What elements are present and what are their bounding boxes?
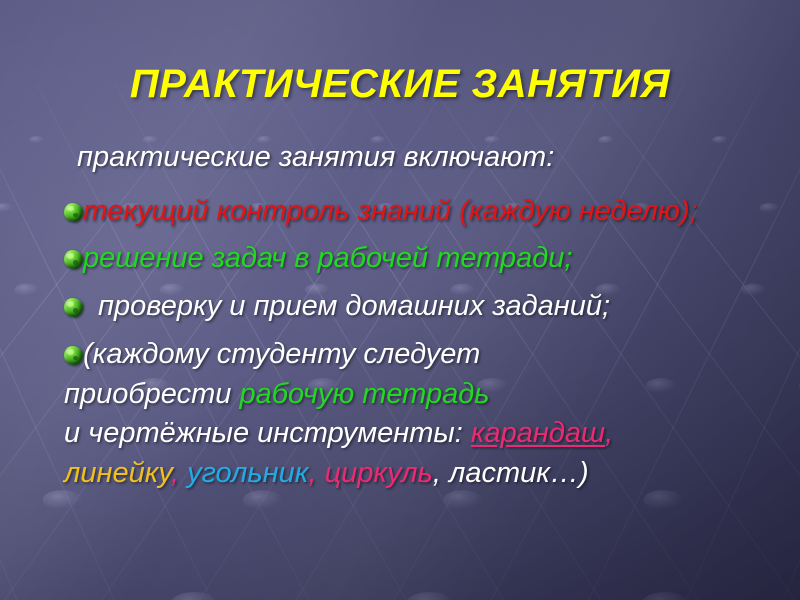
bullet-text-homework-check: проверку и прием домашних заданий; — [90, 290, 610, 322]
highlight-ruler: линейку — [64, 457, 171, 489]
list-item: (каждому студенту следует приобрести раб… — [64, 335, 760, 494]
highlight-set-square: угольник — [187, 457, 308, 489]
separator-comma-1: , — [605, 417, 613, 449]
presentation-slide: ПРАКТИЧЕСКИЕ ЗАНЯТИЯ практические заняти… — [0, 0, 800, 600]
list-item: решение задач в рабочей тетради; — [64, 239, 760, 279]
green-gem-bullet-icon — [64, 250, 83, 269]
green-gem-bullet-icon — [64, 346, 83, 365]
bullet-text-drawing-tools: и чертёжные инструменты: — [64, 417, 471, 449]
slide-content: ПРАКТИЧЕСКИЕ ЗАНЯТИЯ практические заняти… — [0, 0, 800, 600]
highlight-eraser: ластик…) — [449, 457, 589, 489]
highlight-pencil: карандаш — [471, 417, 605, 449]
list-item: проверку и прием домашних заданий; — [64, 287, 760, 327]
bullet-text-current-control-cont: неделю); — [579, 195, 698, 227]
list-item: текущий контроль знаний (каждую неделю); — [64, 192, 760, 232]
highlight-workbook: рабочую тетрадь — [239, 378, 489, 410]
separator-comma-3: , — [308, 457, 316, 489]
slide-title: ПРАКТИЧЕСКИЕ ЗАНЯТИЯ — [0, 62, 800, 107]
separator-comma-4: , — [433, 457, 441, 489]
bullet-text-supplies-intro: (каждому студенту следует — [83, 338, 480, 370]
bullet-text-task-solving: решение задач в рабочей тетради; — [83, 242, 572, 274]
bullet-text-acquire: приобрести — [64, 378, 239, 410]
green-gem-bullet-icon — [64, 298, 83, 317]
intro-text: практические занятия включают: — [77, 138, 760, 178]
green-gem-bullet-icon — [64, 203, 83, 222]
highlight-compass: циркуль — [325, 457, 433, 489]
slide-body: практические занятия включают: текущий к… — [64, 138, 760, 502]
separator-comma-2: , — [171, 457, 179, 489]
bullet-text-current-control: текущий контроль знаний (каждую — [83, 195, 571, 227]
